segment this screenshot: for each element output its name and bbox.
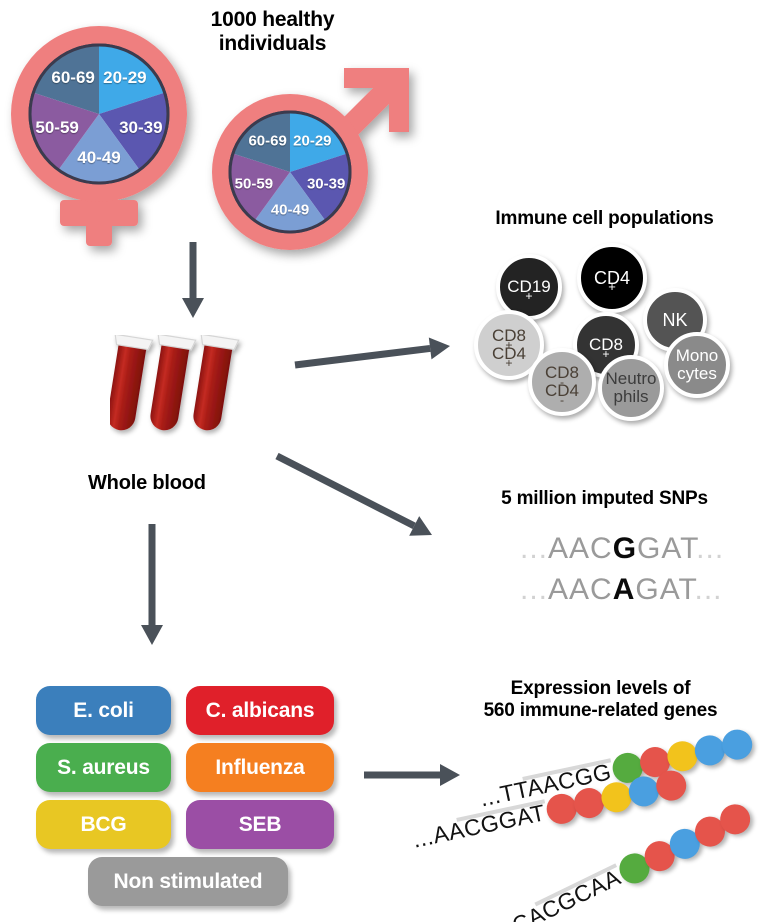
strand-sequence-text: ...CACGCAA — [489, 863, 627, 922]
strand-sequence-text: ...AACGGAT — [410, 799, 550, 854]
expression-bead — [719, 727, 755, 763]
figure-canvas: 1000 healthy individuals 20-2930-3940-49… — [0, 0, 771, 922]
expression-strands: ...TTAACGG...AACGGAT...CACGCAA — [0, 0, 771, 922]
